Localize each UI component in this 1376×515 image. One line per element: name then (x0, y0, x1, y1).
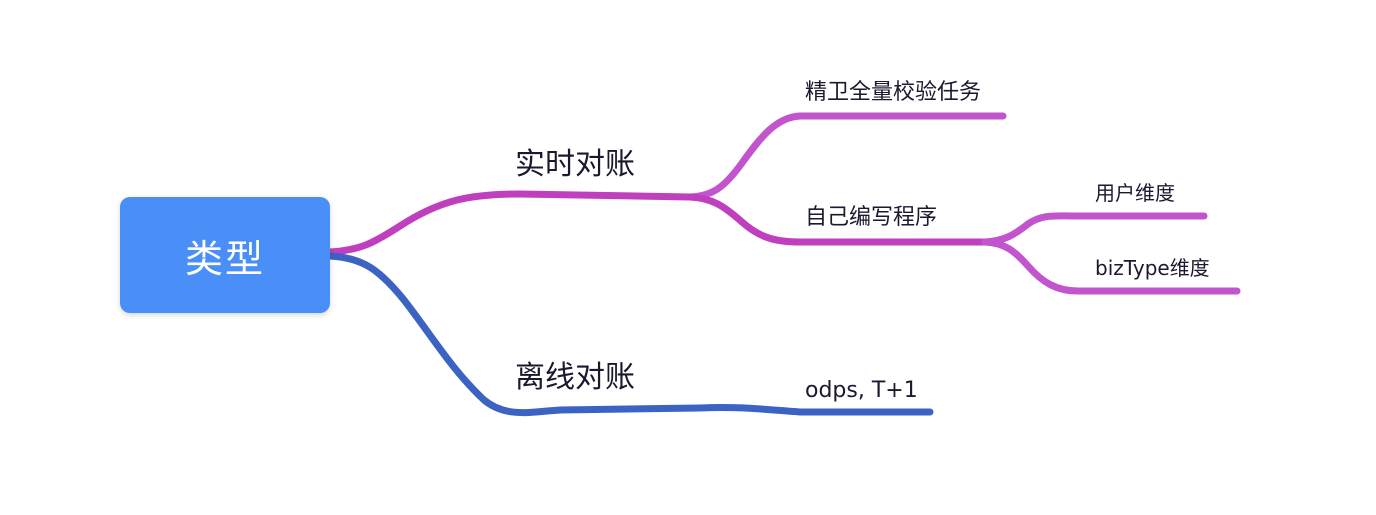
mindmap-root-node[interactable]: 类型 (120, 197, 330, 313)
node-label-biztype-dimension[interactable]: bizType维度 (1095, 258, 1210, 278)
mindmap-canvas: 类型 实时对账 离线对账 精卫全量校验任务 自己编写程序 用户维度 bizTyp… (0, 0, 1376, 515)
root-node-label: 类型 (185, 228, 265, 283)
node-label-jingwei-full-verification-task[interactable]: 精卫全量校验任务 (805, 82, 981, 104)
node-label-realtime[interactable]: 实时对账 (515, 150, 635, 180)
node-label-odps-t-plus-1[interactable]: odps, T+1 (805, 380, 918, 402)
edge-root-to-realtime (330, 194, 690, 252)
node-label-self-written-program[interactable]: 自己编写程序 (805, 207, 937, 229)
node-label-offline[interactable]: 离线对账 (515, 363, 635, 393)
edge-selfprog-to-userdim (985, 216, 1204, 242)
node-label-user-dimension[interactable]: 用户维度 (1095, 183, 1175, 203)
edge-offline-to-odps (700, 407, 930, 412)
edge-realtime-to-jingwei (690, 116, 1003, 197)
